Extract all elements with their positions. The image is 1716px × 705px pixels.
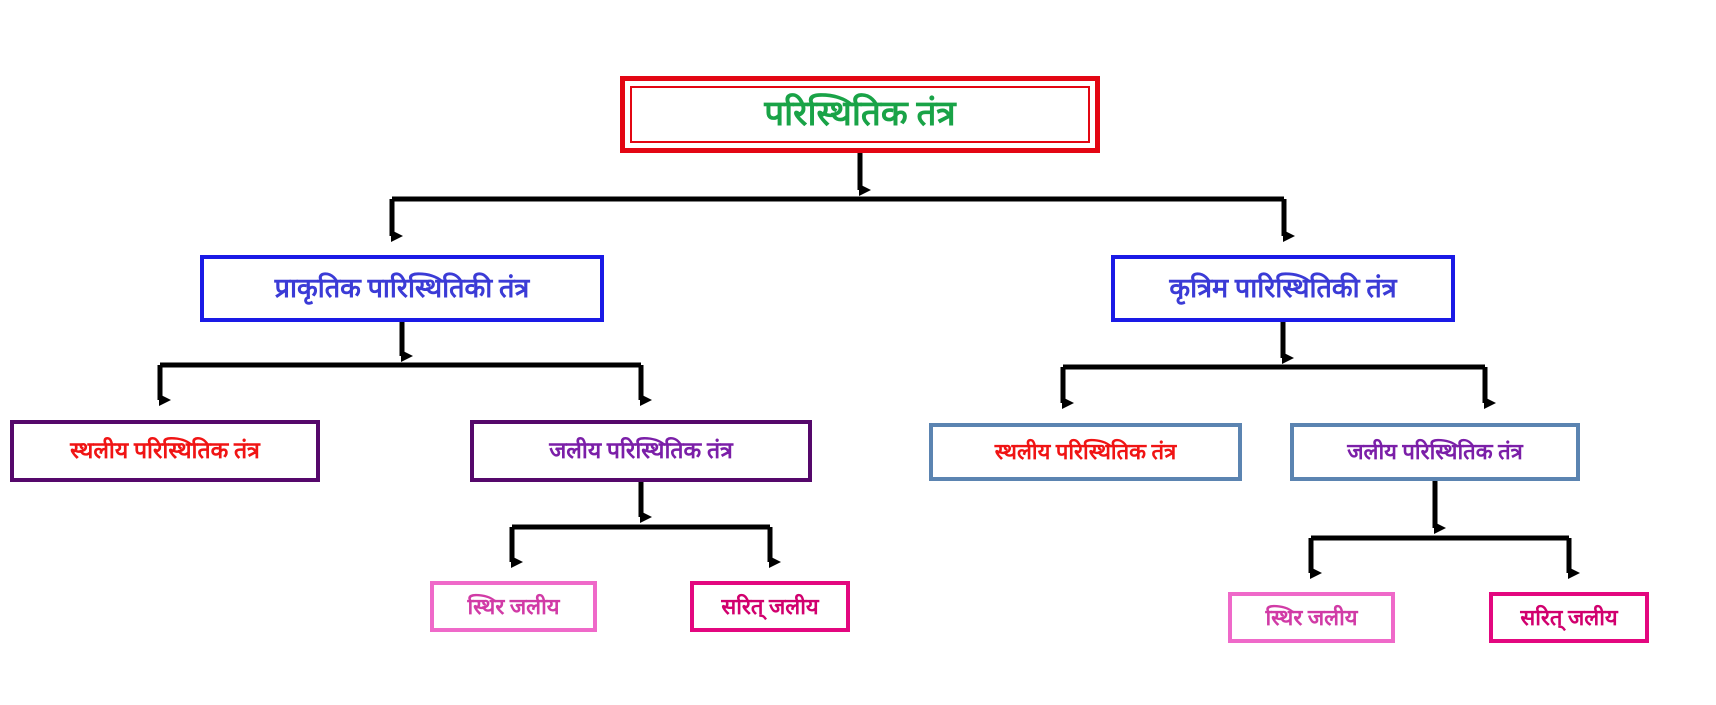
node-label-root: परिस्थितिक तंत्र: [758, 94, 962, 134]
node-terrestrial-artificial[interactable]: स्थलीय परिस्थितिक तंत्र: [929, 423, 1242, 481]
node-label-terrestrial-natural: स्थलीय परिस्थितिक तंत्र: [64, 438, 266, 464]
node-aquatic-natural[interactable]: जलीय परिस्थितिक तंत्र: [470, 420, 812, 482]
node-label-aquatic-natural: जलीय परिस्थितिक तंत्र: [543, 438, 739, 464]
node-root-ecosystem[interactable]: परिस्थितिक तंत्र: [620, 76, 1100, 153]
root-inner-border: परिस्थितिक तंत्र: [630, 86, 1090, 143]
node-natural-ecosystem[interactable]: प्राकृतिक पारिस्थितिकी तंत्र: [200, 255, 604, 322]
node-lotic-natural[interactable]: सरित् जलीय: [690, 581, 850, 632]
node-label-aquatic-artificial: जलीय परिस्थितिक तंत्र: [1341, 439, 1529, 464]
node-label-lotic-natural: सरित् जलीय: [715, 594, 824, 619]
node-artificial-ecosystem[interactable]: कृत्रिम पारिस्थितिकी तंत्र: [1111, 255, 1455, 322]
node-label-natural: प्राकृतिक पारिस्थितिकी तंत्र: [269, 273, 536, 304]
node-terrestrial-natural[interactable]: स्थलीय परिस्थितिक तंत्र: [10, 420, 320, 482]
node-lentic-artificial[interactable]: स्थिर जलीय: [1228, 592, 1395, 643]
node-lentic-natural[interactable]: स्थिर जलीय: [430, 581, 597, 632]
node-label-artificial: कृत्रिम पारिस्थितिकी तंत्र: [1163, 273, 1402, 304]
node-label-lentic-natural: स्थिर जलीय: [461, 594, 565, 619]
node-lotic-artificial[interactable]: सरित् जलीय: [1489, 592, 1649, 643]
node-label-lentic-artificial: स्थिर जलीय: [1259, 605, 1363, 630]
node-label-lotic-artificial: सरित् जलीय: [1514, 605, 1623, 630]
node-label-terrestrial-artificial: स्थलीय परिस्थितिक तंत्र: [989, 439, 1182, 464]
node-aquatic-artificial[interactable]: जलीय परिस्थितिक तंत्र: [1290, 423, 1580, 481]
diagram-canvas: परिस्थितिक तंत्र प्राकृतिक पारिस्थितिकी …: [0, 0, 1716, 705]
